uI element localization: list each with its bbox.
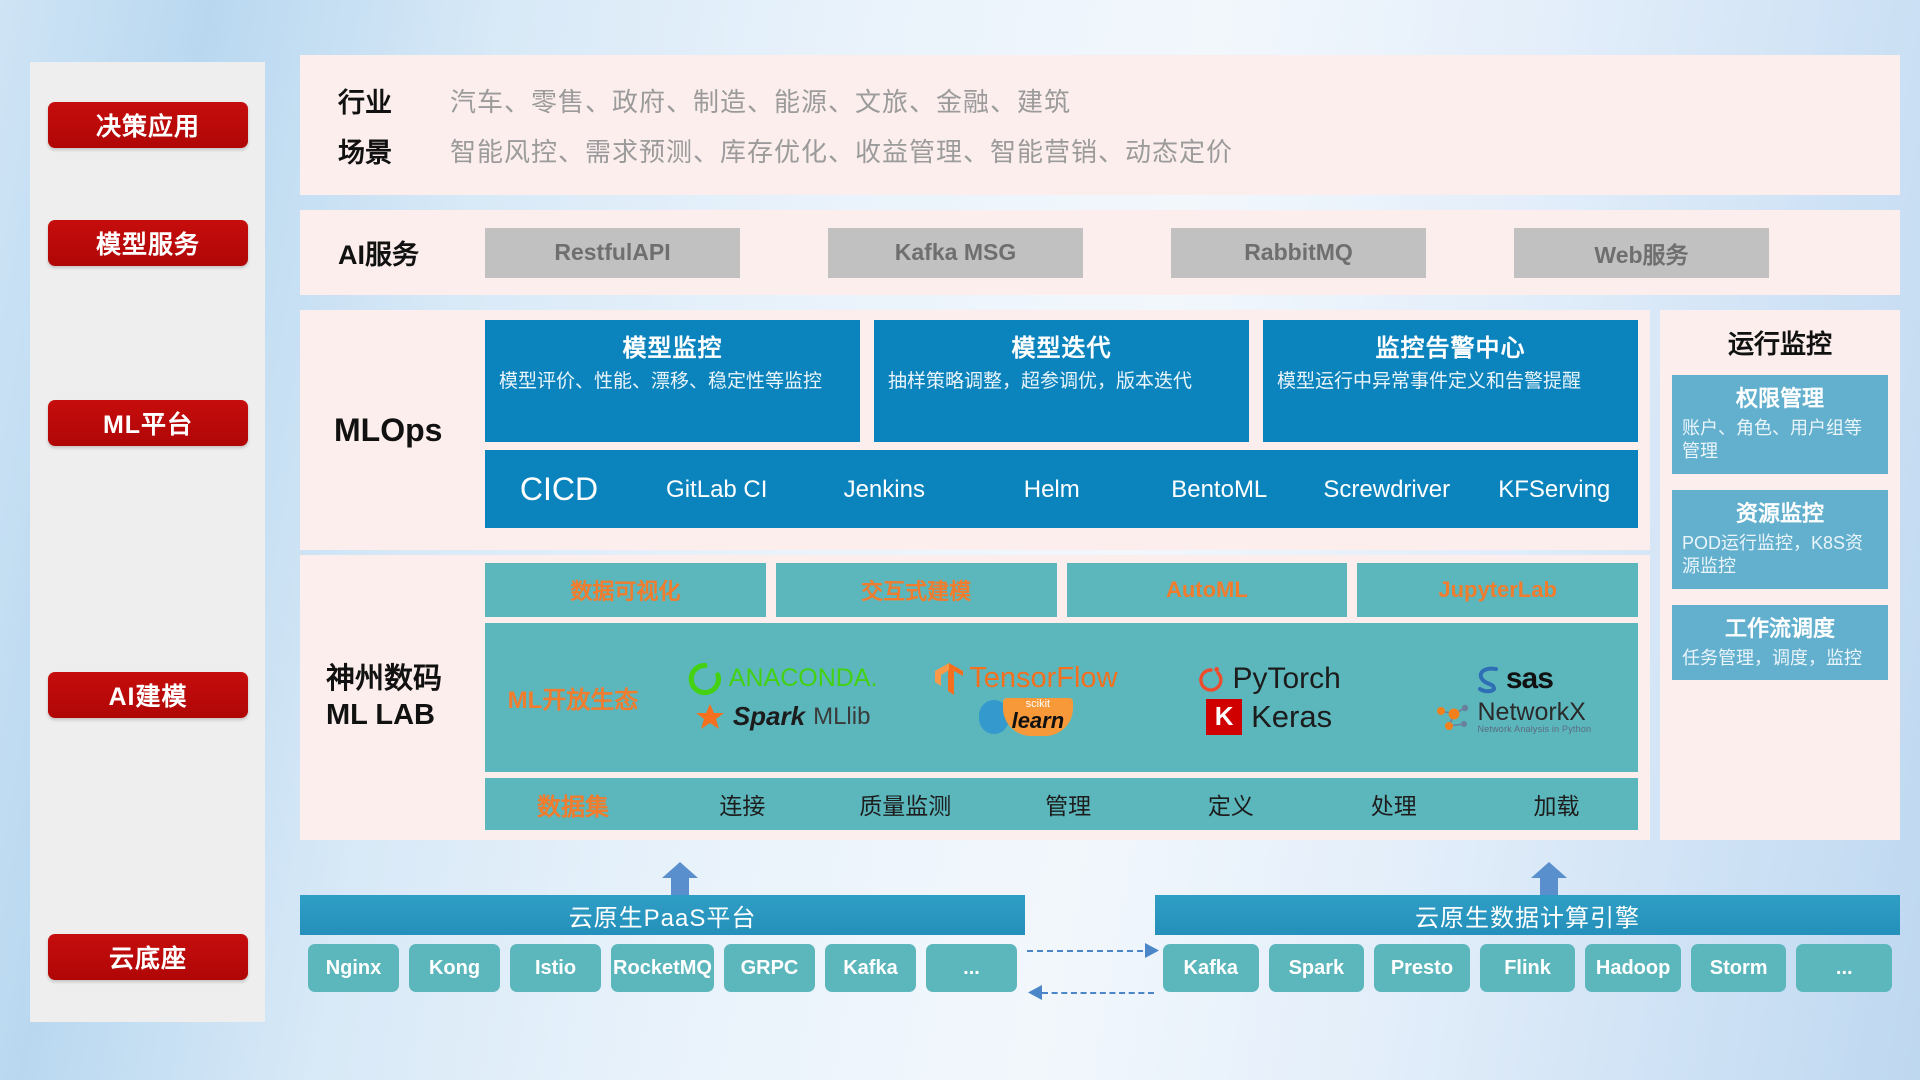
card-title: 监控告警中心: [1277, 328, 1624, 363]
engine-chip-storm[interactable]: Storm: [1691, 944, 1787, 992]
ml-ecosystem: ML开放生态 ANACONDA.: [485, 623, 1638, 772]
anaconda-logo: ANACONDA.: [688, 662, 878, 696]
keras-wordmark: Keras: [1251, 699, 1332, 735]
dataset-item-manage[interactable]: 管理: [987, 787, 1150, 821]
tensorflow-mark-icon: [934, 662, 964, 696]
card-title: 权限管理: [1682, 381, 1878, 413]
architecture-main: 行业 汽车、零售、政府、制造、能源、文旅、金融、建筑 场景 智能风控、需求预测、…: [300, 0, 1900, 1080]
cicd-title: CICD: [485, 471, 633, 508]
mlops-card-alert-center[interactable]: 监控告警中心 模型运行中异常事件定义和告警提醒: [1263, 320, 1638, 442]
pytorch-logo: PyTorch: [1197, 662, 1340, 696]
paas-chip-istio[interactable]: Istio: [510, 944, 601, 992]
cicd-item-screwdriver[interactable]: Screwdriver: [1303, 475, 1471, 502]
anaconda-mark-icon: [688, 662, 722, 696]
monitoring-card-resource[interactable]: 资源监控 POD运行监控，K8S资源监控: [1672, 490, 1888, 589]
connector-paas-to-engine: [1027, 950, 1153, 952]
monitoring-card-workflow[interactable]: 工作流调度 任务管理，调度，监控: [1672, 605, 1888, 680]
service-chip-web[interactable]: Web服务: [1514, 228, 1769, 278]
rail-chip-4[interactable]: 云底座: [48, 934, 248, 980]
engine-chip-group: Kafka Spark Presto Flink Hadoop Storm ..…: [1155, 935, 1900, 1001]
cicd-item-gitlab-ci[interactable]: GitLab CI: [633, 475, 801, 502]
band-ai-service: AI服务 RestfulAPI Kafka MSG RabbitMQ Web服务: [300, 210, 1900, 295]
mlops-label: MLOps: [300, 310, 485, 550]
keras-logo: K Keras: [1206, 699, 1332, 735]
cloud-native-data-engine-block: 云原生数据计算引擎 Kafka Spark Presto Flink Hadoo…: [1155, 895, 1900, 1001]
networkx-graph-icon: [1434, 700, 1472, 734]
mlops-card-model-iteration[interactable]: 模型迭代 抽样策略调整，超参调优，版本迭代: [874, 320, 1249, 442]
anaconda-wordmark: ANACONDA.: [729, 664, 878, 693]
engine-chip-flink[interactable]: Flink: [1480, 944, 1576, 992]
connector-arrow-left-icon: [1028, 985, 1042, 1000]
scikit-orange-blob-icon: scikit learn: [1003, 698, 1074, 736]
row-scenario: 场景 智能风控、需求预测、库存优化、收益管理、智能营销、动态定价: [300, 125, 1900, 175]
dataset-item-define[interactable]: 定义: [1149, 787, 1312, 821]
dataset-item-load[interactable]: 加载: [1475, 787, 1638, 821]
engine-title: 云原生数据计算引擎: [1155, 895, 1900, 935]
dataset-item-process[interactable]: 处理: [1312, 787, 1475, 821]
sas-wordmark: sas: [1506, 662, 1553, 696]
band-runtime-monitoring: 运行监控 权限管理 账户、角色、用户组等管理 资源监控 POD运行监控，K8S资…: [1660, 310, 1900, 840]
paas-chip-nginx[interactable]: Nginx: [308, 944, 399, 992]
card-title: 模型监控: [499, 328, 846, 363]
ai-service-chip-group: RestfulAPI Kafka MSG RabbitMQ Web服务: [485, 228, 1769, 278]
card-desc: 模型评价、性能、漂移、稳定性等监控: [499, 369, 846, 394]
cloud-native-paas-block: 云原生PaaS平台 Nginx Kong Istio RocketMQ GRPC…: [300, 895, 1025, 1001]
cicd-item-group: GitLab CI Jenkins Helm BentoML Screwdriv…: [633, 475, 1638, 502]
ml-ecosystem-logo-grid: ANACONDA. TensorFlow: [661, 660, 1638, 736]
ml-tool-group: 数据可视化 交互式建模 AutoML JupyterLab: [485, 563, 1638, 617]
card-desc: 账户、角色、用户组等管理: [1682, 417, 1878, 464]
dataset-item-quality[interactable]: 质量监测: [824, 787, 987, 821]
card-desc: POD运行监控，K8S资源监控: [1682, 532, 1878, 579]
arrow-up-paas-icon: [658, 862, 702, 896]
paas-chip-kafka[interactable]: Kafka: [825, 944, 916, 992]
keras-mark-icon: K: [1206, 699, 1242, 735]
monitoring-card-permission[interactable]: 权限管理 账户、角色、用户组等管理: [1672, 375, 1888, 474]
spark-star-icon: [695, 703, 725, 731]
paas-chip-more[interactable]: ...: [926, 944, 1017, 992]
card-title: 模型迭代: [888, 328, 1235, 363]
rail-chip-2[interactable]: ML平台: [48, 400, 248, 446]
card-title: 资源监控: [1682, 496, 1878, 528]
engine-chip-kafka[interactable]: Kafka: [1163, 944, 1259, 992]
arrow-up-engine-icon: [1527, 862, 1571, 896]
connector-arrow-right-icon: [1145, 943, 1159, 958]
paas-title: 云原生PaaS平台: [300, 895, 1025, 935]
band-ai-modeling: 神州数码 ML LAB 数据可视化 交互式建模 AutoML JupyterLa…: [300, 555, 1650, 840]
tensorflow-wordmark: TensorFlow: [969, 662, 1117, 695]
engine-chip-hadoop[interactable]: Hadoop: [1585, 944, 1681, 992]
paas-chip-group: Nginx Kong Istio RocketMQ GRPC Kafka ...: [300, 935, 1025, 1001]
cicd-item-helm[interactable]: Helm: [968, 475, 1136, 502]
dataset-item-connect[interactable]: 连接: [661, 787, 824, 821]
networkx-logo: NetworkX Network Analysis in Python: [1434, 700, 1592, 734]
industry-value: 汽车、零售、政府、制造、能源、文旅、金融、建筑: [450, 82, 1071, 119]
scenario-value: 智能风控、需求预测、库存优化、收益管理、智能营销、动态定价: [450, 132, 1233, 169]
spark-wordmark: Spark: [733, 701, 805, 732]
pytorch-mark-icon: [1197, 663, 1225, 695]
mllib-wordmark: MLlib: [813, 703, 870, 731]
card-desc: 抽样策略调整，超参调优，版本迭代: [888, 369, 1235, 394]
layer-rail: 决策应用模型服务ML平台AI建模云底座: [30, 62, 265, 1022]
networkx-tagline: Network Analysis in Python: [1478, 725, 1592, 734]
paas-chip-rocketmq[interactable]: RocketMQ: [611, 944, 714, 992]
industry-label: 行业: [300, 81, 450, 120]
dataset-title: 数据集: [485, 787, 661, 822]
networkx-wordmark: NetworkX: [1478, 700, 1592, 725]
scikit-learn-logo: scikit learn: [979, 698, 1074, 736]
band-decision-applications: 行业 汽车、零售、政府、制造、能源、文旅、金融、建筑 场景 智能风控、需求预测、…: [300, 55, 1900, 195]
monitoring-title: 运行监控: [1672, 324, 1888, 361]
service-chip-rabbitmq[interactable]: RabbitMQ: [1171, 228, 1426, 278]
cicd-item-jenkins[interactable]: Jenkins: [801, 475, 969, 502]
ml-tool-jupyterlab[interactable]: JupyterLab: [1357, 563, 1638, 617]
ml-tool-automl[interactable]: AutoML: [1067, 563, 1348, 617]
engine-chip-presto[interactable]: Presto: [1374, 944, 1470, 992]
ai-service-label: AI服务: [300, 233, 485, 272]
card-title: 工作流调度: [1682, 611, 1878, 643]
spark-mllib-logo: Spark MLlib: [695, 701, 871, 732]
card-desc: 任务管理，调度，监控: [1682, 647, 1878, 670]
mlops-card-group: 模型监控 模型评价、性能、漂移、稳定性等监控 模型迭代 抽样策略调整，超参调优，…: [485, 320, 1638, 442]
paas-chip-grpc[interactable]: GRPC: [724, 944, 815, 992]
ml-tool-interactive-modeling[interactable]: 交互式建模: [776, 563, 1057, 617]
rail-chip-1[interactable]: 模型服务: [48, 220, 248, 266]
scenario-label: 场景: [300, 131, 450, 170]
card-desc: 模型运行中异常事件定义和告警提醒: [1277, 369, 1624, 394]
band-mlops: MLOps 模型监控 模型评价、性能、漂移、稳定性等监控 模型迭代 抽样策略调整…: [300, 310, 1650, 550]
ml-lab-label: 神州数码 ML LAB: [300, 555, 485, 840]
cicd-bar: CICD GitLab CI Jenkins Helm BentoML Scre…: [485, 450, 1638, 528]
rail-chip-0[interactable]: 决策应用: [48, 102, 248, 148]
paas-chip-kong[interactable]: Kong: [409, 944, 500, 992]
ml-ecosystem-title: ML开放生态: [485, 680, 661, 715]
cicd-item-bentoml[interactable]: BentoML: [1136, 475, 1304, 502]
pytorch-wordmark: PyTorch: [1232, 662, 1340, 696]
tensorflow-logo: TensorFlow: [934, 662, 1117, 696]
engine-chip-more[interactable]: ...: [1796, 944, 1892, 992]
cicd-item-kfserving[interactable]: KFServing: [1471, 475, 1639, 502]
ml-dataset-row: 数据集 连接 质量监测 管理 定义 处理 加载: [485, 778, 1638, 830]
rail-chip-3[interactable]: AI建模: [48, 672, 248, 718]
ml-tool-data-visualization[interactable]: 数据可视化: [485, 563, 766, 617]
engine-chip-spark[interactable]: Spark: [1269, 944, 1365, 992]
learn-word: learn: [1012, 710, 1065, 732]
service-chip-restfulapi[interactable]: RestfulAPI: [485, 228, 740, 278]
sas-mark-icon: [1472, 663, 1504, 695]
mlops-card-model-monitoring[interactable]: 模型监控 模型评价、性能、漂移、稳定性等监控: [485, 320, 860, 442]
connector-engine-to-paas: [1042, 992, 1154, 994]
dataset-item-group: 连接 质量监测 管理 定义 处理 加载: [661, 787, 1638, 821]
service-chip-kafka-msg[interactable]: Kafka MSG: [828, 228, 1083, 278]
row-industry: 行业 汽车、零售、政府、制造、能源、文旅、金融、建筑: [300, 75, 1900, 125]
sas-logo: sas: [1472, 662, 1553, 696]
